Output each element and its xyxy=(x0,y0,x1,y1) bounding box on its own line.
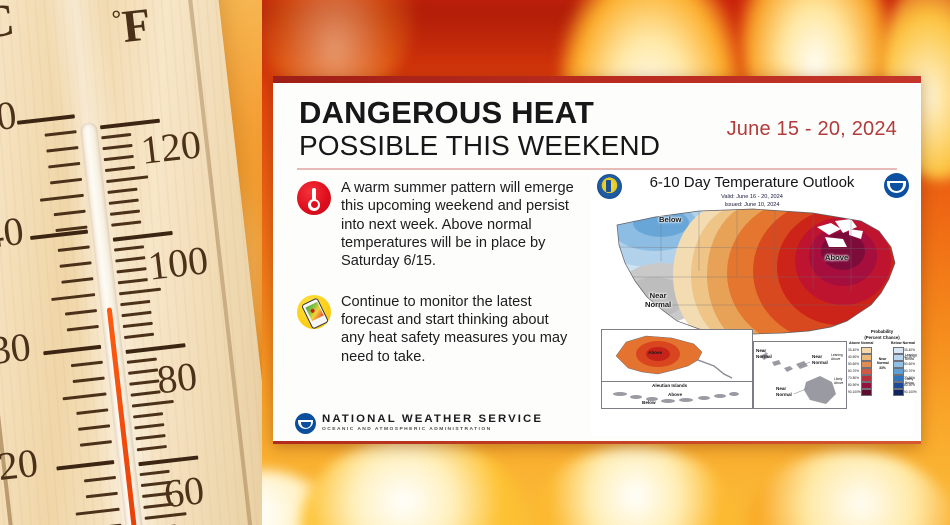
card-bottom-accent-bar xyxy=(273,441,921,444)
legend-swatch-label: 60-70% xyxy=(848,369,859,373)
map-label-near-normal: Near Normal xyxy=(645,291,671,309)
legend-swatch xyxy=(893,375,904,382)
temperature-outlook-panel: 6-10 Day Temperature Outlook Valid: June… xyxy=(591,171,913,436)
legend-swatch-label: 90-100% xyxy=(848,390,861,394)
legend-swatch-label: 70-80% xyxy=(848,376,859,380)
legend-col-below: Below Normal xyxy=(891,341,915,345)
bullet-text-2: Continue to monitor the latest forecast … xyxy=(341,293,575,366)
smartphone-forecast-icon xyxy=(297,295,331,329)
title-line-1: DANGEROUS HEAT xyxy=(299,97,660,129)
outlook-header: 6-10 Day Temperature Outlook Valid: June… xyxy=(591,171,913,205)
hawaii-label-near-3: NearNormal xyxy=(776,386,792,397)
near-normal-line-2: Normal xyxy=(645,300,671,309)
legend-swatch xyxy=(861,389,872,396)
thermometer-icon xyxy=(297,181,331,215)
legend-near-normal-value: 33% xyxy=(879,366,886,370)
outlook-title: 6-10 Day Temperature Outlook xyxy=(591,174,913,191)
legend-title-line-2: (Percent Chance) xyxy=(864,335,899,340)
map-label-above: Above xyxy=(825,253,848,262)
legend-swatch-label: 90-100% xyxy=(904,390,917,394)
hawaii-label-near-2: NearNormal xyxy=(812,354,828,365)
thermometer-wood-board: °C °F 50 40 30 20 120 100 80 60 xyxy=(0,0,262,525)
valid-label: Valid: xyxy=(721,194,735,200)
legend-side-likely-above: LikelyAbove xyxy=(834,377,843,385)
page-title: DANGEROUS HEAT POSSIBLE THIS WEEKEND xyxy=(299,97,660,161)
fahrenheit-unit-label: °F xyxy=(110,0,153,54)
legend-swatch-label: 33-40% xyxy=(904,348,915,352)
alaska-inset: Above xyxy=(601,329,753,383)
legend-swatch xyxy=(893,368,904,375)
legend-swatch xyxy=(893,389,904,396)
legend-swatch-label: 50-60% xyxy=(848,362,859,366)
legend-swatch xyxy=(861,375,872,382)
bullet-list: A warm summer pattern will emerge this u… xyxy=(297,179,575,388)
aleutian-label-above: Above xyxy=(668,392,682,397)
aleutian-inset: Aleutian Islands Above Below xyxy=(601,381,753,409)
screenshot-root: °C °F 50 40 30 20 120 100 80 60 xyxy=(0,0,950,525)
legend-near-normal: Near Normal 33% xyxy=(877,357,888,370)
aleutian-title: Aleutian Islands xyxy=(652,383,687,388)
title-divider xyxy=(297,168,897,170)
legend-swatch xyxy=(893,347,904,354)
alaska-map xyxy=(602,330,752,382)
alaska-label-above: Above xyxy=(648,350,662,355)
map-label-below: Below xyxy=(659,215,681,224)
legend-swatch xyxy=(861,361,872,368)
nws-branding: NATIONAL WEATHER SERVICE OCEANIC AND ATM… xyxy=(295,413,543,434)
legend-swatch-label: 60-70% xyxy=(904,369,915,373)
near-normal-line-1: Near xyxy=(650,291,667,300)
legend-swatch-label: 80-90% xyxy=(848,383,859,387)
valid-value: June 16 - 20, 2024 xyxy=(736,194,783,200)
legend-swatch-label: 33-40% xyxy=(848,348,859,352)
legend-side-likely-below: LikelyBelow xyxy=(905,377,914,385)
legend-swatch xyxy=(861,354,872,361)
celsius-tick-30: 30 xyxy=(0,323,33,374)
legend-swatch xyxy=(893,361,904,368)
celsius-tick-20: 20 xyxy=(0,439,40,490)
outlook-map: Below Near Normal Above xyxy=(597,201,907,397)
probability-legend: Probability (Percent Chance) Above Norma… xyxy=(847,329,917,409)
legend-swatch xyxy=(861,347,872,354)
agency-subtitle: OCEANIC AND ATMOSPHERIC ADMINISTRATION xyxy=(322,428,543,433)
legend-swatch-label: 50-60% xyxy=(904,362,915,366)
list-item: Continue to monitor the latest forecast … xyxy=(297,293,575,366)
noaa-seal-icon xyxy=(295,413,316,434)
list-item: A warm summer pattern will emerge this u… xyxy=(297,179,575,271)
card-top-accent-bar xyxy=(273,76,921,83)
hawaii-label-near-1: NearNormal xyxy=(756,348,772,359)
alert-card: DANGEROUS HEAT POSSIBLE THIS WEEKEND Jun… xyxy=(273,76,921,444)
legend-title-line-1: Probability xyxy=(871,329,893,334)
date-range-label: June 15 - 20, 2024 xyxy=(727,118,897,141)
fahrenheit-letter: F xyxy=(120,0,154,52)
legend-side-leaning-above: LeaningAbove xyxy=(831,353,843,361)
legend-col-above: Above Normal xyxy=(849,341,873,345)
legend-side-leaning-below: LeaningBelow xyxy=(905,353,917,361)
aleutian-label-below: Below xyxy=(642,400,656,405)
legend-swatch xyxy=(893,382,904,389)
legend-title: Probability (Percent Chance) xyxy=(847,329,917,342)
legend-swatch xyxy=(893,354,904,361)
legend-swatch xyxy=(861,368,872,375)
thermometer-photo: °C °F 50 40 30 20 120 100 80 60 xyxy=(0,0,262,525)
bullet-text-1: A warm summer pattern will emerge this u… xyxy=(341,179,575,271)
agency-name: NATIONAL WEATHER SERVICE xyxy=(322,414,543,425)
hawaii-inset: NearNormal NearNormal NearNormal xyxy=(753,341,847,409)
legend-swatch xyxy=(861,382,872,389)
legend-swatch-label: 40-50% xyxy=(848,355,859,359)
title-line-2: POSSIBLE THIS WEEKEND xyxy=(299,130,660,161)
